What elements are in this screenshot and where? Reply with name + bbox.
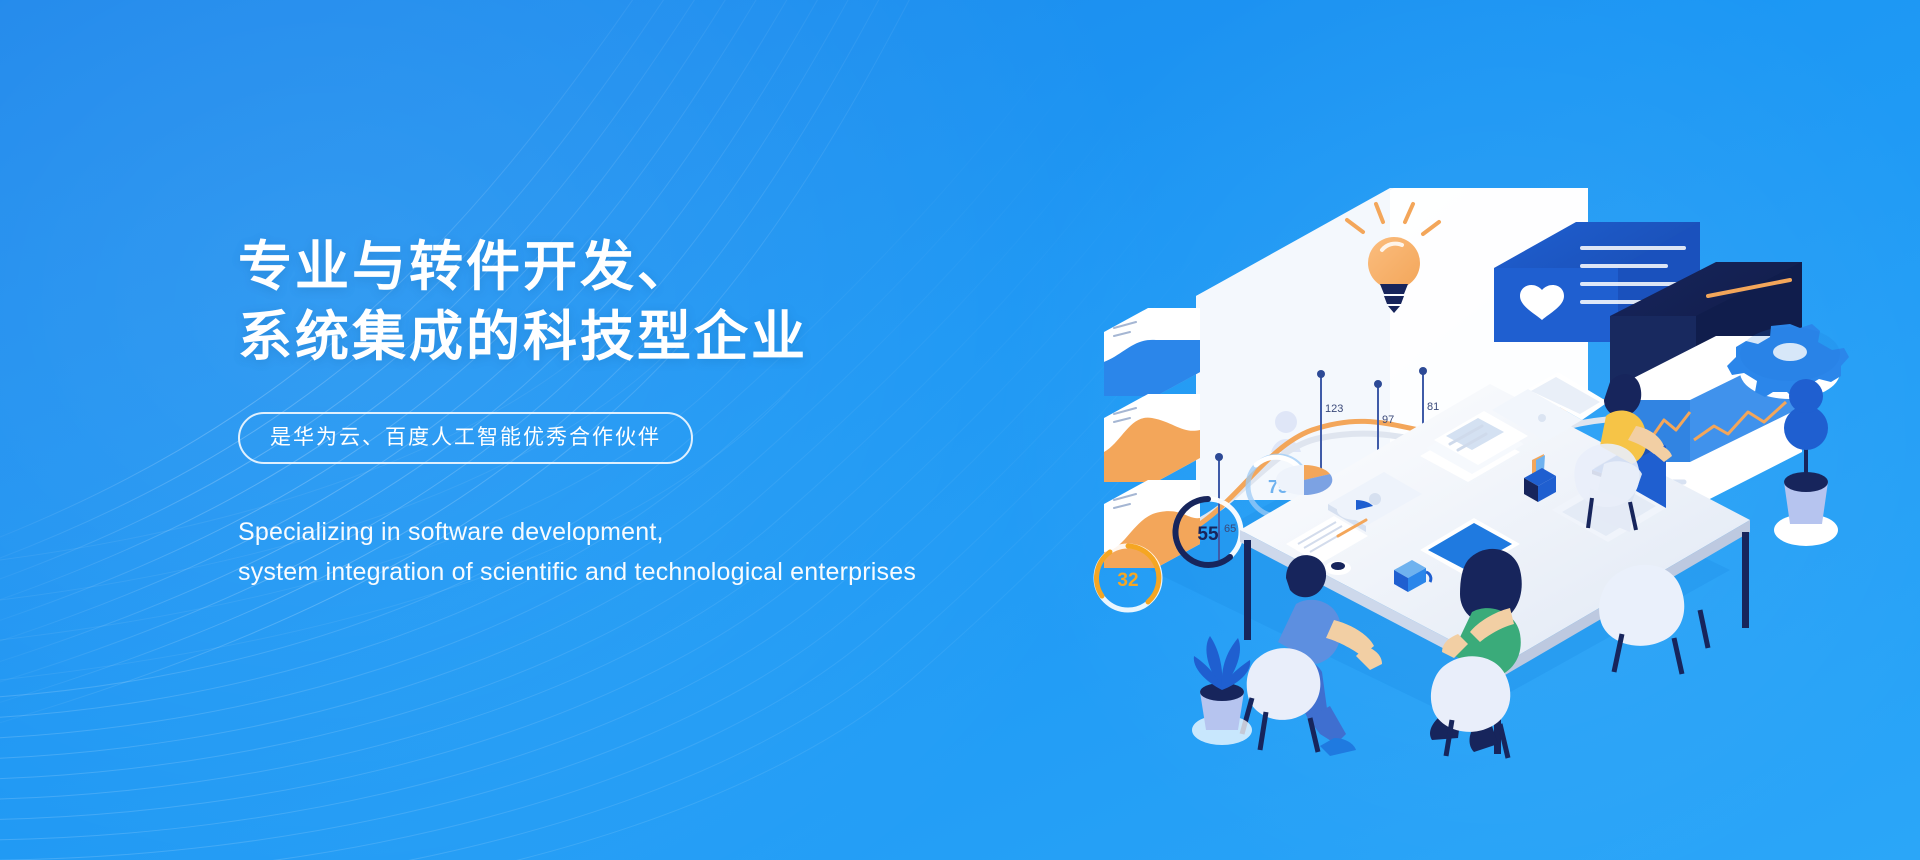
subtitle: Specializing in software development, sy… [238,512,1138,592]
floor-plant-icon [1192,636,1252,745]
gauge-value-55: 55 [1197,524,1219,545]
side-card-1 [1104,308,1200,396]
chart-label-123: 123 [1325,403,1343,415]
gauge-value-32: 32 [1117,570,1138,591]
hero-illustration: 65 123 97 81 [1090,100,1890,760]
hero-banner: 专业与转件开发、 系统集成的科技型企业 是华为云、百度人工智能优秀合作伙伴 Sp… [0,0,1920,860]
chair-blue [1242,648,1320,752]
side-card-2 [1104,394,1200,482]
coffee-saucer [1325,561,1351,575]
chart-label-65: 65 [1224,523,1236,535]
chart-label-81: 81 [1427,401,1439,413]
headline-line-2: 系统集成的科技型企业 [238,302,1138,372]
subtitle-line-2: system integration of scientific and tec… [238,552,1138,592]
page-title: 专业与转件开发、 系统集成的科技型企业 [238,232,1138,372]
headline-line-1: 专业与转件开发、 [238,237,694,297]
hero-text-block: 专业与转件开发、 系统集成的科技型企业 是华为云、百度人工智能优秀合作伙伴 Sp… [238,232,1138,592]
subtitle-line-1: Specializing in software development, [238,512,1138,552]
chart-label-97: 97 [1382,414,1394,426]
partner-badge: 是华为云、百度人工智能优秀合作伙伴 [238,412,693,464]
